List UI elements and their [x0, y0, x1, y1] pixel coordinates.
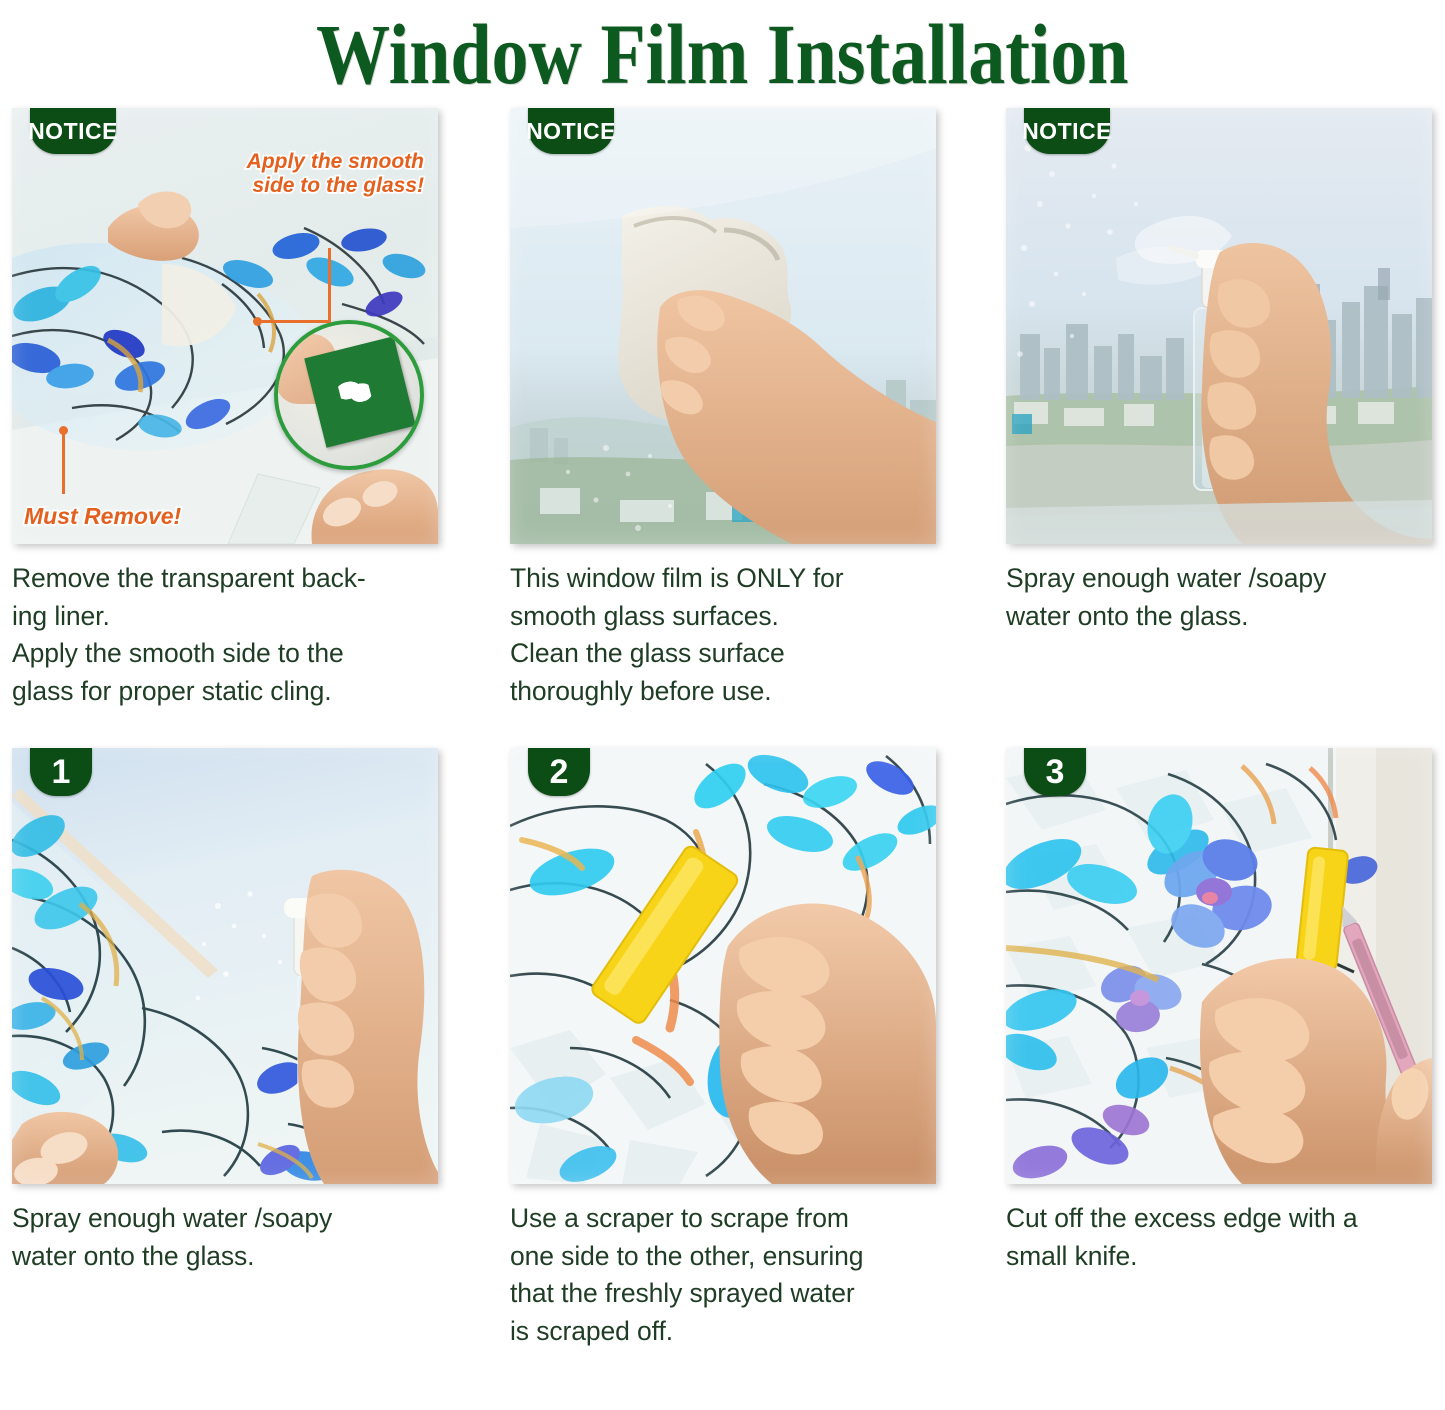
page-header: Window Film Installation	[0, 0, 1445, 108]
instruction-step-6: 3 Cut off the excess edge with a small k…	[998, 748, 1445, 1358]
instruction-step-4: 1 Spray enough water /soapy water onto t…	[0, 748, 500, 1358]
step-caption: Use a scraper to scrape from one side to…	[510, 1200, 998, 1351]
instruction-grid: NOTICE Apply the smooth side to the glas…	[0, 108, 1445, 1358]
step-number-badge: 1	[30, 748, 92, 796]
instruction-step-5: 2 Use a scraper to scrape from one side …	[500, 748, 998, 1358]
notice-badge: NOTICE	[528, 108, 614, 154]
must-remove-leader	[62, 432, 65, 494]
instruction-step-1: NOTICE Apply the smooth side to the glas…	[0, 108, 500, 748]
callout-anchor-dot	[253, 317, 262, 326]
step-caption: Spray enough water /soapy water onto the…	[1006, 560, 1445, 635]
spray-bottle-on-glass-photo: NOTICE	[1006, 108, 1432, 544]
step-caption: Spray enough water /soapy water onto the…	[12, 1200, 500, 1275]
trim-edge-with-knife-photo: 3	[1006, 748, 1432, 1184]
step-number-badge: 2	[528, 748, 590, 796]
page-title: Window Film Installation	[316, 11, 1128, 97]
step-number-badge: 3	[1024, 748, 1086, 796]
spray-water-on-film-scene	[12, 748, 438, 1184]
step-caption: This window film is ONLY for smooth glas…	[510, 560, 998, 711]
notice-badge: NOTICE	[1024, 108, 1110, 154]
film-backing-liner-photo: NOTICE Apply the smooth side to the glas…	[12, 108, 438, 544]
trim-edge-scene	[1006, 748, 1432, 1184]
must-remove-anchor-dot	[59, 426, 68, 435]
callout-leader-vertical	[328, 248, 331, 322]
instruction-row-bottom: 1 Spray enough water /soapy water onto t…	[0, 748, 1445, 1358]
apply-smooth-side-callout: Apply the smooth side to the glass!	[204, 150, 424, 197]
scraper-squeegee-photo: 2	[510, 748, 936, 1184]
must-remove-callout: Must Remove!	[24, 504, 181, 530]
callout-leader-horizontal	[259, 320, 331, 323]
step-caption: Remove the transparent back- ing liner. …	[12, 560, 500, 711]
step-caption: Cut off the excess edge with a small kni…	[1006, 1200, 1445, 1275]
spray-water-on-film-photo: 1	[12, 748, 438, 1184]
window-cleaning-scene	[510, 108, 936, 544]
cleaning-glass-with-cloth-photo: NOTICE	[510, 108, 936, 544]
notice-badge: NOTICE	[30, 108, 116, 154]
spray-on-window-scene	[1006, 108, 1432, 544]
instruction-row-top: NOTICE Apply the smooth side to the glas…	[0, 108, 1445, 748]
instruction-step-3: NOTICE Spray enough water /soapy water o…	[998, 108, 1445, 748]
scraper-on-film-scene	[510, 748, 936, 1184]
instruction-step-2: NOTICE This window film is ONLY for smoo…	[500, 108, 998, 748]
magnifier-inset	[274, 320, 424, 470]
